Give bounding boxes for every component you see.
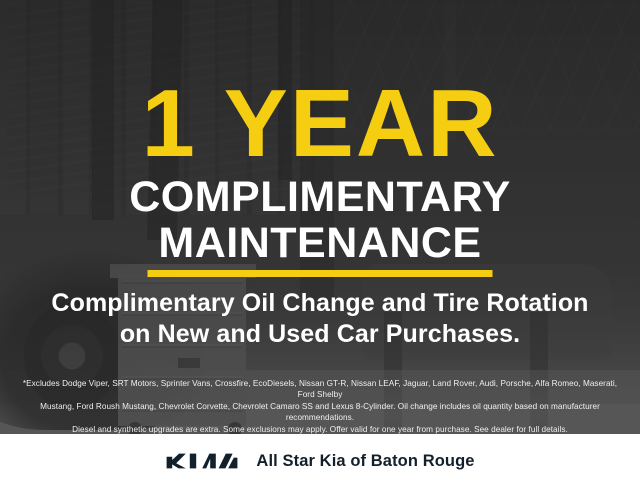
offer-description-line-2: on New and Used Car Purchases. xyxy=(0,319,640,350)
ad-content: 1 YEAR COMPLIMENTARY MAINTENANCE Complim… xyxy=(0,0,640,488)
disclaimer-line-1: *Excludes Dodge Viper, SRT Motors, Sprin… xyxy=(18,378,622,401)
offer-description: Complimentary Oil Change and Tire Rotati… xyxy=(0,288,640,350)
offer-subheadline: COMPLIMENTARY MAINTENANCE xyxy=(0,174,640,266)
dealer-branding: All Star Kia of Baton Rouge xyxy=(165,450,474,472)
offer-description-line-1: Complimentary Oil Change and Tire Rotati… xyxy=(51,289,588,317)
dealer-name: All Star Kia of Baton Rouge xyxy=(256,452,474,471)
dealer-footer-bar: All Star Kia of Baton Rouge xyxy=(0,434,640,488)
offer-headline: 1 YEAR xyxy=(0,76,640,172)
offer-subheadline-line-1: COMPLIMENTARY xyxy=(129,173,511,221)
offer-subheadline-line-2: MAINTENANCE xyxy=(0,220,640,266)
promotional-ad-banner: 1 YEAR COMPLIMENTARY MAINTENANCE Complim… xyxy=(0,0,640,488)
disclaimer-line-2: Mustang, Ford Roush Mustang, Chevrolet C… xyxy=(18,401,622,424)
yellow-divider-bar xyxy=(148,270,493,277)
kia-logo xyxy=(165,450,239,472)
disclaimer-text: *Excludes Dodge Viper, SRT Motors, Sprin… xyxy=(18,378,622,435)
